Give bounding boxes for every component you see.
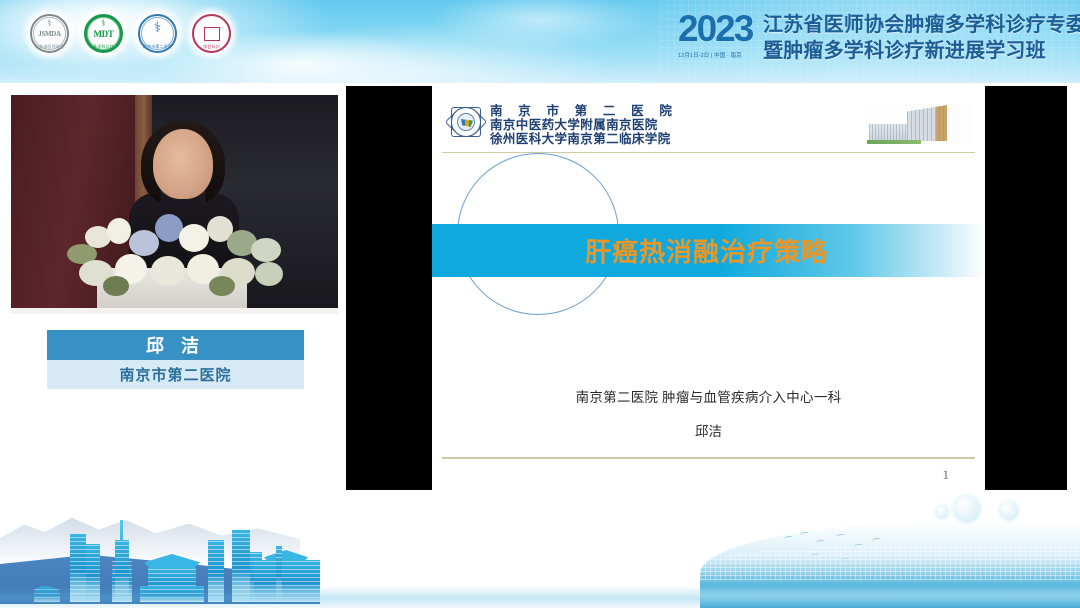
society-badge: 学会标识 <box>190 12 233 55</box>
slide-title-band: 肝癌热消融治疗策略 <box>432 224 985 277</box>
badge-subtext: 南京市第二医院 <box>136 44 179 50</box>
badge-acronym: MDT <box>93 29 113 39</box>
slide-department: 南京第二医院 肿瘤与血管疾病介入中心一科 <box>432 386 985 406</box>
hospital-name-line1: 南 京 市 第 二 医 院 <box>490 104 678 118</box>
conference-year: 2023 <box>678 8 758 50</box>
speaker-affiliation: 南京市第二医院 <box>119 364 231 385</box>
conference-title-line2: 暨肿瘤多学科诊疗新进展学习班 <box>763 38 1080 64</box>
speaker-name-plate: 邱 洁 南京市第二医院 <box>47 330 304 389</box>
slide-footer-divider <box>442 457 975 459</box>
speaker-head <box>153 129 213 199</box>
badge-subtext: 江苏省医师协会 <box>28 44 71 50</box>
hospital-building-photo <box>863 104 973 144</box>
hospital-name-line3: 徐州医科大学南京第二临床学院 <box>490 132 678 146</box>
conference-title: 江苏省医师协会肿瘤多学科诊疗专委会年会 暨肿瘤多学科诊疗新进展学习班 <box>763 8 1080 64</box>
hospital-name-line2: 南京中医药大学附属南京医院 <box>490 118 678 132</box>
slide-header-divider <box>442 152 975 153</box>
mdt-badge: ⚕ MDT 多学科诊疗 <box>82 12 125 55</box>
organizer-logo-badges: ⚕ JSMDA 江苏省医师协会 ⚕ MDT 多学科诊疗 ⚕ 南京市第二医院 学会… <box>28 12 233 55</box>
jsmda-badge: ⚕ JSMDA 江苏省医师协会 <box>28 12 71 55</box>
badge-acronym: JSMDA <box>38 30 61 38</box>
header-banner: ⚕ JSMDA 江苏省医师协会 ⚕ MDT 多学科诊疗 ⚕ 南京市第二医院 学会… <box>0 0 1080 83</box>
slide-title: 肝癌热消融治疗策略 <box>585 232 828 269</box>
badge-subtext: 多学科诊疗 <box>82 44 125 50</box>
flower-bouquet <box>59 210 297 296</box>
hospital-badge: ⚕ 南京市第二医院 <box>136 12 179 55</box>
speaker-affiliation-bar: 南京市第二医院 <box>47 360 304 389</box>
cloud-wisp-icon <box>430 0 650 50</box>
slide-page-number: 1 <box>943 467 950 483</box>
speaker-name-bar: 邱 洁 <box>47 330 304 360</box>
main-stage: 邱 洁 南京市第二医院 南 京 市 第 二 医 院 南京中医药大学附属南京医院 … <box>0 83 1080 492</box>
slide-panel[interactable]: 南 京 市 第 二 医 院 南京中医药大学附属南京医院 徐州医科大学南京第二临床… <box>346 86 1067 490</box>
badge-subtext: 学会标识 <box>190 44 233 50</box>
video-bottom-edge <box>11 308 338 314</box>
speaker-video-feed[interactable] <box>11 95 338 314</box>
slide-canvas: 南 京 市 第 二 医 院 南京中医药大学附属南京医院 徐州医科大学南京第二临床… <box>432 86 985 490</box>
conference-year-logo: 2023 12月1日-2日 | 中国 · 南京 <box>678 8 758 68</box>
conference-lockup: 2023 12月1日-2日 | 中国 · 南京 江苏省医师协会肿瘤多学科诊疗专委… <box>678 8 1080 68</box>
caduceus-icon: ⚕ <box>101 19 106 28</box>
hospital-name-block: 南 京 市 第 二 医 院 南京中医药大学附属南京医院 徐州医科大学南京第二临床… <box>490 104 678 146</box>
wave-lines <box>0 586 1080 608</box>
hospital-logo-icon <box>447 103 485 141</box>
badge-emblem-icon <box>204 27 220 41</box>
caduceus-icon: ⚕ <box>47 19 52 28</box>
speaker-name: 邱 洁 <box>146 332 205 358</box>
conference-title-line1: 江苏省医师协会肿瘤多学科诊疗专委会年会 <box>763 12 1080 38</box>
slide-presenter: 邱洁 <box>432 420 985 440</box>
conference-date-place: 12月1日-2日 | 中国 · 南京 <box>678 51 758 59</box>
footer-decoration-band <box>0 492 1080 608</box>
caduceus-shield-icon: ⚕ <box>154 23 162 32</box>
